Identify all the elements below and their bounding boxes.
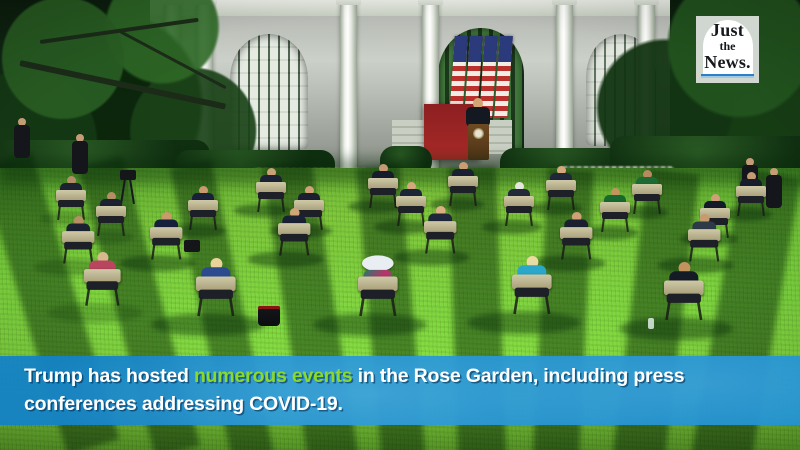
logo-line-2: the <box>696 40 759 52</box>
caption-highlight: numerous events <box>194 365 352 387</box>
bucket-prop <box>258 306 280 326</box>
column-3 <box>340 0 357 176</box>
folding-chair-legs <box>98 222 124 236</box>
bag-prop <box>184 240 200 252</box>
caption-segment-1: Trump has hosted <box>24 365 194 387</box>
folding-chair-legs <box>152 244 180 259</box>
folding-chair-legs <box>548 196 574 210</box>
caption-text: Trump has hosted numerous events in the … <box>24 362 780 418</box>
caption-banner: Trump has hosted numerous events in the … <box>0 356 800 425</box>
caption-line-1: Trump has hosted numerous events in the … <box>24 362 780 390</box>
column-capital <box>418 0 443 5</box>
logo-wordmark: Just the News. <box>696 21 759 71</box>
folding-chair-legs <box>86 289 118 306</box>
folding-chair-legs <box>690 246 718 261</box>
folding-chair-legs <box>515 296 549 314</box>
standing-person <box>72 134 88 174</box>
folding-chair-legs <box>450 192 476 206</box>
just-the-news-logo[interactable]: Just the News. <box>696 16 759 83</box>
tripod-leg <box>129 179 135 204</box>
folding-chair-legs <box>506 212 532 226</box>
caption-segment-2: in the Rose Garden, including press <box>352 365 684 387</box>
folding-chair-legs <box>361 298 395 316</box>
logo-accent-rule <box>701 74 754 78</box>
water-bottle <box>648 318 654 329</box>
presidential-seal-icon <box>473 128 484 139</box>
folding-chair-legs <box>398 212 424 226</box>
folding-chair-legs <box>280 240 308 255</box>
folding-chair-legs <box>199 298 233 316</box>
video-still-frame: Just the News. Trump has hosted numerous… <box>0 0 800 450</box>
logo-line-3: News. <box>696 53 759 71</box>
folding-chair-legs <box>370 194 396 208</box>
folding-chair-legs <box>190 216 216 230</box>
column-capital <box>552 0 577 5</box>
folding-chair-legs <box>258 198 284 212</box>
folding-chair-legs <box>634 200 660 214</box>
person-body <box>766 175 782 208</box>
standing-person <box>14 118 30 158</box>
column-capital <box>336 0 361 5</box>
person-body <box>72 141 88 174</box>
podium-speaker <box>462 98 494 160</box>
caption-line-2: conferences addressing COVID-19. <box>24 390 780 418</box>
standing-person <box>766 168 782 208</box>
folding-chair-legs <box>562 244 590 259</box>
folding-chair-legs <box>667 302 701 320</box>
folding-chair-legs <box>602 218 628 232</box>
person-body <box>14 125 30 158</box>
folding-chair-legs <box>738 202 764 216</box>
folding-chair-legs <box>426 238 454 253</box>
logo-line-1: Just <box>696 21 759 39</box>
